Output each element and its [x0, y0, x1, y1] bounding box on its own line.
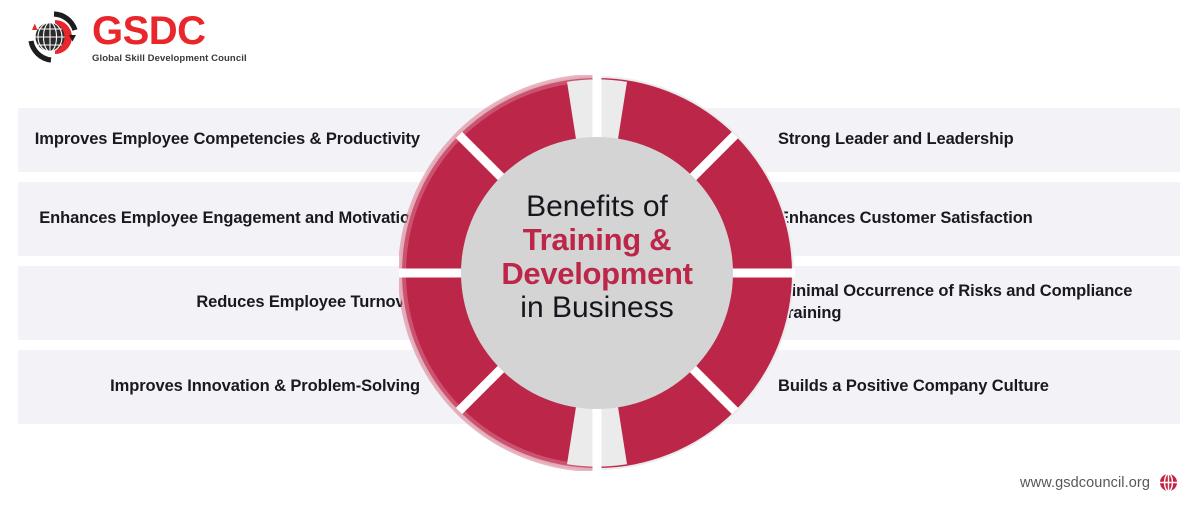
benefit-label: Builds a Positive Company Culture [778, 376, 1049, 398]
benefit-label: Enhances Employee Engagement and Motivat… [39, 208, 420, 230]
benefit-label: Improves Employee Competencies & Product… [35, 129, 420, 151]
website-url[interactable]: www.gsdcouncil.org [1020, 475, 1150, 491]
donut-wheel [399, 75, 795, 471]
benefit-label: Strong Leader and Leadership [778, 129, 1014, 151]
infographic-canvas: GSDC Global Skill Development Council Im… [0, 0, 1200, 506]
benefit-label: Improves Innovation & Problem-Solving [110, 376, 420, 398]
brand-logo[interactable]: GSDC Global Skill Development Council [24, 8, 247, 66]
brand-name: GSDC [92, 11, 247, 51]
globe-icon [1159, 473, 1178, 492]
footer: www.gsdcouncil.org [1020, 473, 1178, 492]
benefit-label: Minimal Occurrence of Risks and Complian… [778, 281, 1180, 325]
brand-tagline: Global Skill Development Council [92, 54, 247, 64]
globe-arc-logo-icon [24, 8, 86, 66]
benefit-label: Reduces Employee Turnover [196, 292, 420, 314]
benefit-label: Enhances Customer Satisfaction [778, 208, 1033, 230]
